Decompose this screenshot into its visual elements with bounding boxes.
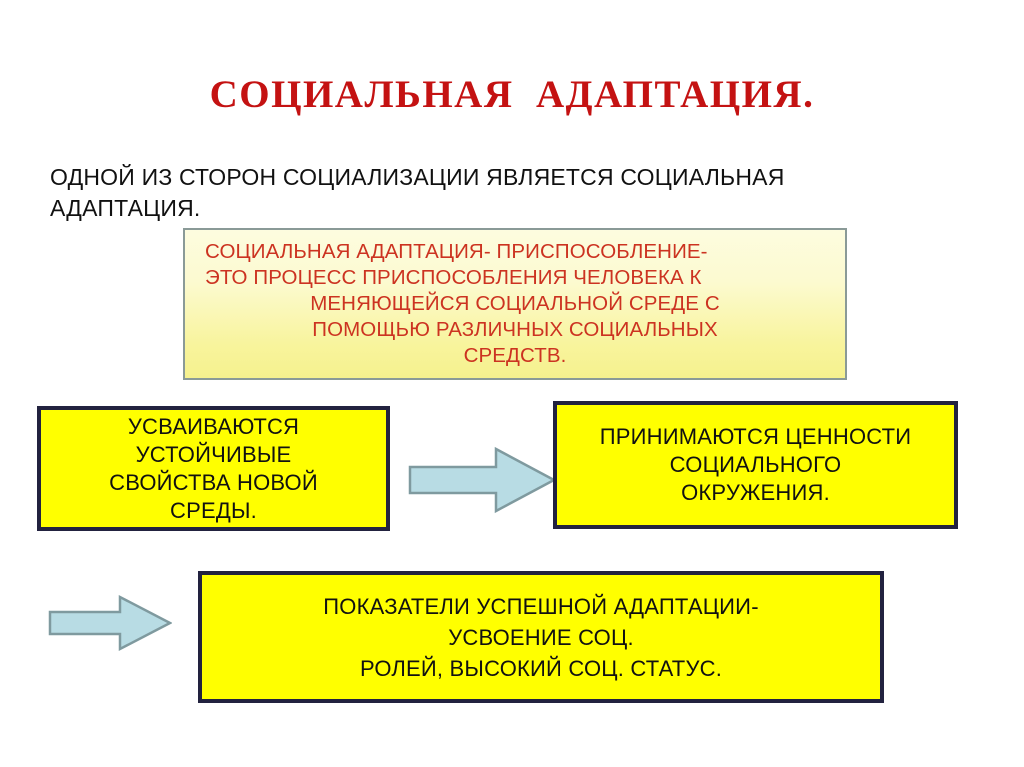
slide-canvas: СОЦИАЛЬНАЯ АДАПТАЦИЯ. ОДНОЙ ИЗ СТОРОН СО… <box>0 0 1024 767</box>
box-left-text: УСВАИВАЮТСЯ УСТОЙЧИВЫЕ СВОЙСТВА НОВОЙ СР… <box>41 413 386 525</box>
definition-box: СОЦИАЛЬНАЯ АДАПТАЦИЯ- ПРИСПОСОБЛЕНИЕ- ЭТ… <box>183 228 847 380</box>
arrow-right-icon-secondary <box>48 594 172 652</box>
box-right-values: ПРИНИМАЮТСЯ ЦЕННОСТИ СОЦИАЛЬНОГО ОКРУЖЕН… <box>553 401 958 529</box>
definition-line-5: СРЕДСТВ. <box>191 343 839 369</box>
box-left-line-2: УСТОЙЧИВЫЕ <box>41 441 386 469</box>
box-left-line-4: СРЕДЫ. <box>41 497 386 525</box>
definition-line-3: МЕНЯЮЩЕЙСЯ СОЦИАЛЬНОЙ СРЕДЕ С <box>191 291 839 317</box>
intro-paragraph: ОДНОЙ ИЗ СТОРОН СОЦИАЛИЗАЦИИ ЯВЛЯЕТСЯ СО… <box>50 162 930 224</box>
box-left-line-1: УСВАИВАЮТСЯ <box>41 413 386 441</box>
definition-line-1: СОЦИАЛЬНАЯ АДАПТАЦИЯ- ПРИСПОСОБЛЕНИЕ- <box>191 239 839 265</box>
definition-line-4: ПОМОЩЬЮ РАЗЛИЧНЫХ СОЦИАЛЬНЫХ <box>191 317 839 343</box>
box-bottom-line-3: РОЛЕЙ, ВЫСОКИЙ СОЦ. СТАТУС. <box>202 653 880 684</box>
arrow-right-icon <box>408 445 556 515</box>
definition-line-2: ЭТО ПРОЦЕСС ПРИСПОСОБЛЕНИЯ ЧЕЛОВЕКА К <box>191 265 839 291</box>
box-right-line-1: ПРИНИМАЮТСЯ ЦЕННОСТИ <box>557 423 954 451</box>
box-bottom-line-1: ПОКАЗАТЕЛИ УСПЕШНОЙ АДАПТАЦИИ- <box>202 591 880 622</box>
box-bottom-text: ПОКАЗАТЕЛИ УСПЕШНОЙ АДАПТАЦИИ- УСВОЕНИЕ … <box>202 591 880 684</box>
box-left-assimilation: УСВАИВАЮТСЯ УСТОЙЧИВЫЕ СВОЙСТВА НОВОЙ СР… <box>37 406 390 531</box>
definition-text: СОЦИАЛЬНАЯ АДАПТАЦИЯ- ПРИСПОСОБЛЕНИЕ- ЭТ… <box>185 239 845 369</box>
box-bottom-line-2: УСВОЕНИЕ СОЦ. <box>202 622 880 653</box>
box-right-text: ПРИНИМАЮТСЯ ЦЕННОСТИ СОЦИАЛЬНОГО ОКРУЖЕН… <box>557 423 954 507</box>
box-right-line-3: ОКРУЖЕНИЯ. <box>557 479 954 507</box>
box-bottom-indicators: ПОКАЗАТЕЛИ УСПЕШНОЙ АДАПТАЦИИ- УСВОЕНИЕ … <box>198 571 884 703</box>
page-title: СОЦИАЛЬНАЯ АДАПТАЦИЯ. <box>0 72 1024 117</box>
box-left-line-3: СВОЙСТВА НОВОЙ <box>41 469 386 497</box>
box-right-line-2: СОЦИАЛЬНОГО <box>557 451 954 479</box>
